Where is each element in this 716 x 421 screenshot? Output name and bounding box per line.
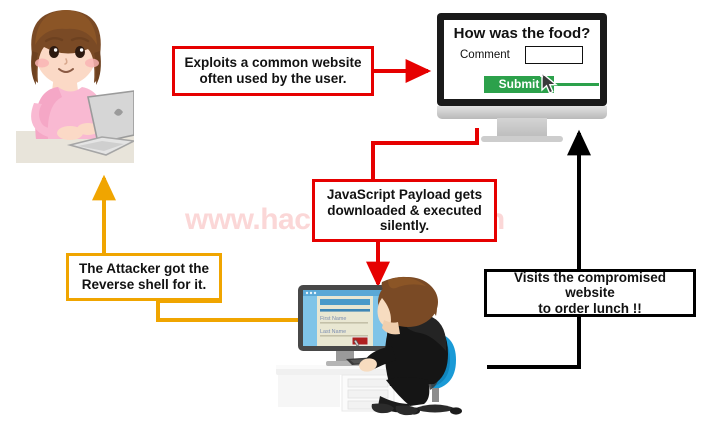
callout-visits-line2: to order lunch !! — [491, 301, 689, 317]
callout-payload-line3: silently. — [323, 218, 486, 234]
callout-reverse-shell: The Attacker got the Reverse shell for i… — [66, 253, 222, 301]
callout-payload-line1: JavaScript Payload gets — [323, 187, 486, 203]
hacker-screen-field-1: First Name — [320, 316, 346, 322]
callout-visits-line1: Visits the compromised website — [491, 270, 689, 301]
feedback-form-title: How was the food? — [444, 25, 600, 42]
callout-exploits-line2: often used by the user. — [180, 71, 365, 87]
mouse-cursor-icon — [540, 72, 560, 96]
victim-monitor: How was the food? Comment Submit — [437, 13, 607, 133]
attacker-hacker-illustration: First Name Last Name — [272, 276, 477, 418]
submit-underline-decoration — [554, 83, 599, 86]
monitor-stand-foot — [481, 136, 563, 142]
comment-label: Comment — [460, 49, 510, 61]
line-visits-to-attacker — [487, 317, 579, 367]
callout-javascript-payload: JavaScript Payload gets downloaded & exe… — [312, 179, 497, 242]
comment-input[interactable] — [525, 46, 583, 64]
line-site-to-payload — [373, 128, 477, 179]
monitor-stand-neck — [497, 118, 547, 137]
callout-revshell-line2: Reverse shell for it. — [75, 277, 213, 293]
monitor-screen: How was the food? Comment Submit — [444, 20, 600, 99]
hacker-screen-field-2: Last Name — [320, 329, 346, 335]
victim-woman-illustration — [2, 5, 134, 163]
callout-visits-website: Visits the compromised website to order … — [484, 269, 696, 317]
callout-revshell-line1: The Attacker got the — [75, 261, 213, 277]
callout-payload-line2: downloaded & executed — [323, 203, 486, 219]
callout-exploits-website: Exploits a common website often used by … — [172, 46, 374, 96]
callout-exploits-line1: Exploits a common website — [180, 55, 365, 71]
monitor-bezel: How was the food? Comment Submit — [437, 13, 607, 106]
diagram-canvas: www.hackingarticles.in — [0, 0, 716, 421]
